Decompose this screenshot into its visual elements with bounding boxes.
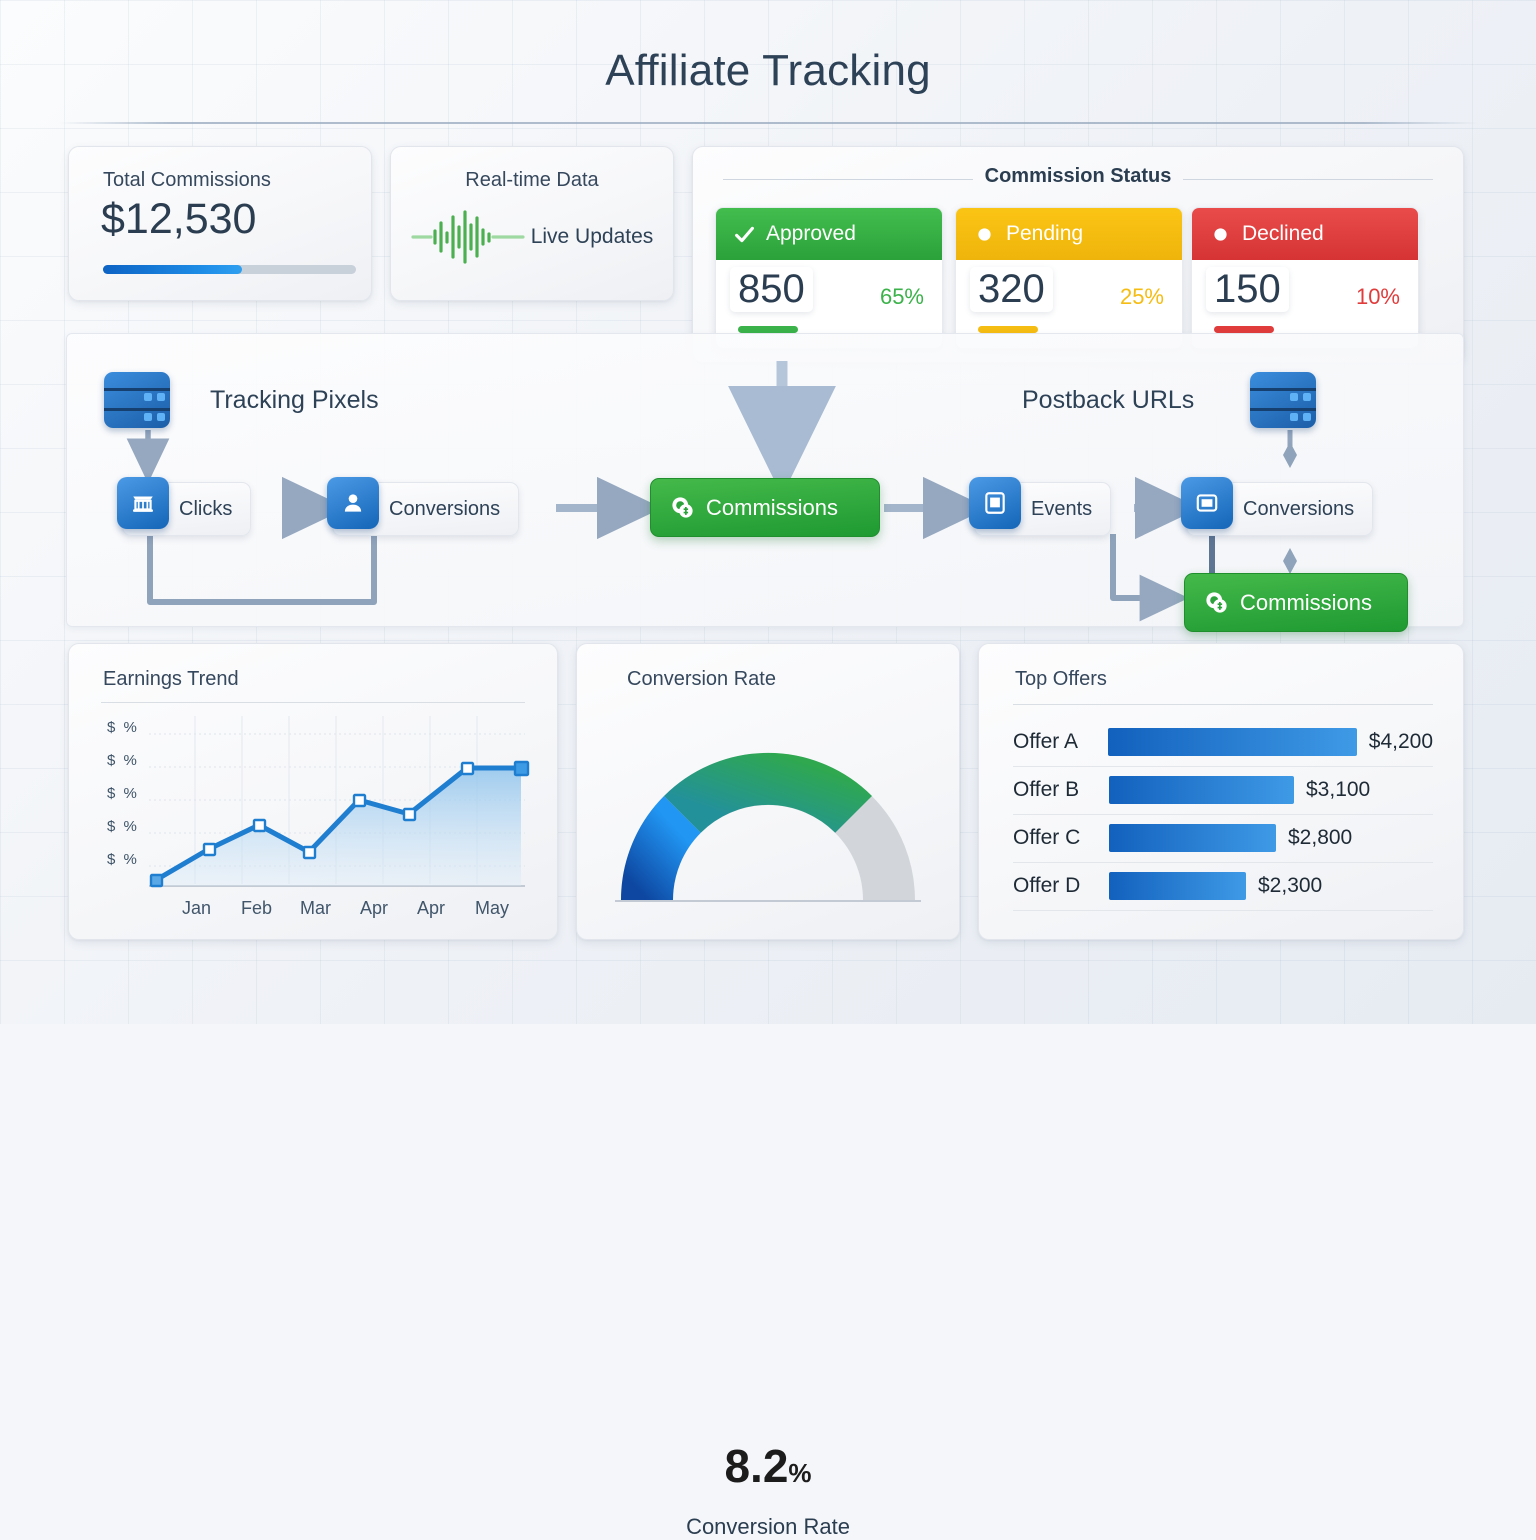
live-updates-label: Live Updates [531, 225, 654, 249]
user-icon [327, 477, 379, 529]
header-divider [58, 122, 1478, 124]
conversion-rate-title: Conversion Rate [627, 668, 776, 691]
table-row[interactable]: Offer A $4,200 [1013, 718, 1433, 766]
offer-value: $2,300 [1258, 874, 1322, 898]
offer-bar [1109, 776, 1294, 804]
offer-name: Offer D [1013, 874, 1109, 898]
offer-value: $4,200 [1369, 730, 1433, 754]
conversion-rate-unit: % [788, 1458, 811, 1488]
offer-value: $2,800 [1288, 826, 1352, 850]
x-tick-label: Apr [417, 898, 445, 919]
total-commissions-progress-track [103, 265, 356, 274]
conversion-rate-number: 8.2 [724, 1440, 788, 1492]
flow-node-label-commissions-right: Commissions [1230, 590, 1390, 616]
realtime-data-card: Real-time Data Live Updat [390, 146, 674, 301]
status-title-rule-right [1183, 179, 1433, 180]
dashboard-page: Affiliate Tracking Total Commissions $12… [0, 0, 1536, 1024]
flow-node-label-commissions-center: Commissions [696, 495, 856, 521]
status-head-declined: Declined [1192, 208, 1418, 260]
offer-name: Offer C [1013, 826, 1109, 850]
waveform-icon [411, 209, 527, 265]
table-row[interactable]: Offer B $3,100 [1013, 766, 1433, 814]
x-tick-label: Mar [300, 898, 331, 919]
top-offers-rule [1013, 704, 1433, 705]
commission-status-title: Commission Status [693, 165, 1463, 188]
x-tick-label: Jan [182, 898, 211, 919]
x-tick-label: Apr [360, 898, 388, 919]
conversion-rate-gauge [577, 702, 959, 932]
status-minibar-approved [738, 326, 798, 333]
offer-bar [1108, 728, 1356, 756]
total-commissions-progress-fill [103, 265, 242, 274]
table-row[interactable]: Offer C $2,800 [1013, 814, 1433, 862]
realtime-data-label: Real-time Data [391, 169, 673, 192]
check-icon [734, 224, 755, 245]
total-commissions-label: Total Commissions [103, 169, 271, 192]
status-pct-approved: 65% [880, 284, 924, 310]
status-card-approved[interactable]: Approved 850 65% [715, 207, 943, 349]
y-tick-label: $ % [107, 719, 139, 736]
x-tick-label: Feb [241, 898, 272, 919]
offer-bar [1109, 824, 1276, 852]
flow-node-conversions-right[interactable]: Conversions [1186, 482, 1373, 536]
offer-name: Offer A [1013, 730, 1108, 754]
earnings-trend-title: Earnings Trend [103, 668, 239, 691]
money-icon [1203, 589, 1230, 616]
status-card-declined[interactable]: Declined 150 10% [1191, 207, 1419, 349]
status-pct-declined: 10% [1356, 284, 1400, 310]
money-icon [669, 494, 696, 521]
dot-icon [1210, 224, 1231, 245]
page-title: Affiliate Tracking [0, 46, 1536, 96]
conversion-rate-value: 8.2% [577, 1439, 959, 1493]
server-icon [1250, 372, 1316, 428]
flow-node-conversions-left[interactable]: Conversions [332, 482, 519, 536]
offer-value: $3,100 [1306, 778, 1370, 802]
top-offers-title: Top Offers [1015, 668, 1107, 691]
commission-status-panel: Commission Status Approved 850 65% [692, 146, 1464, 363]
total-commissions-value: $12,530 [101, 195, 256, 244]
top-offers-card: Top Offers Offer A $4,200 Offer B $3,100… [978, 643, 1464, 940]
offer-bar [1109, 872, 1246, 900]
row-divider [1013, 910, 1433, 911]
flow-node-events[interactable]: Events [974, 482, 1111, 536]
window-icon [969, 477, 1021, 529]
status-head-approved: Approved [716, 208, 942, 260]
y-tick-label: $ % [107, 785, 139, 802]
y-tick-label: $ % [107, 752, 139, 769]
flow-node-commissions-center[interactable]: Commissions [650, 478, 880, 537]
total-commissions-card: Total Commissions $12,530 [68, 146, 372, 301]
flow-node-commissions-right[interactable]: Commissions [1184, 573, 1408, 632]
conversion-rate-card: Conversion Rate 8.2% Conversion Rate [576, 643, 960, 940]
status-label-approved: Approved [766, 222, 856, 246]
status-title-rule-left [723, 179, 973, 180]
status-count-declined: 150 [1206, 267, 1289, 312]
conversion-rate-caption: Conversion Rate [577, 1514, 959, 1540]
live-updates-row: Live Updates [391, 209, 673, 265]
status-label-declined: Declined [1242, 222, 1324, 246]
screen-icon [1181, 477, 1233, 529]
y-tick-label: $ % [107, 818, 139, 835]
x-tick-label: May [475, 898, 509, 919]
earnings-trend-card: Earnings Trend $ % $ % $ % $ % $ % [68, 643, 558, 940]
status-minibar-declined [1214, 326, 1274, 333]
status-minibar-pending [978, 326, 1038, 333]
status-head-pending: Pending [956, 208, 1182, 260]
flow-group-label-postback-urls: Postback URLs [1022, 386, 1194, 415]
flow-node-clicks[interactable]: Clicks [122, 482, 251, 536]
status-pct-pending: 25% [1120, 284, 1164, 310]
server-icon [104, 372, 170, 428]
offer-name: Offer B [1013, 778, 1109, 802]
cart-icon [117, 477, 169, 529]
earnings-trend-rule [101, 702, 525, 703]
status-label-pending: Pending [1006, 222, 1083, 246]
y-tick-label: $ % [107, 851, 139, 868]
status-count-pending: 320 [970, 267, 1053, 312]
table-row[interactable]: Offer D $2,300 [1013, 862, 1433, 910]
flow-group-label-tracking-pixels: Tracking Pixels [210, 386, 379, 415]
status-card-pending[interactable]: Pending 320 25% [955, 207, 1183, 349]
status-count-approved: 850 [730, 267, 813, 312]
dot-icon [974, 224, 995, 245]
